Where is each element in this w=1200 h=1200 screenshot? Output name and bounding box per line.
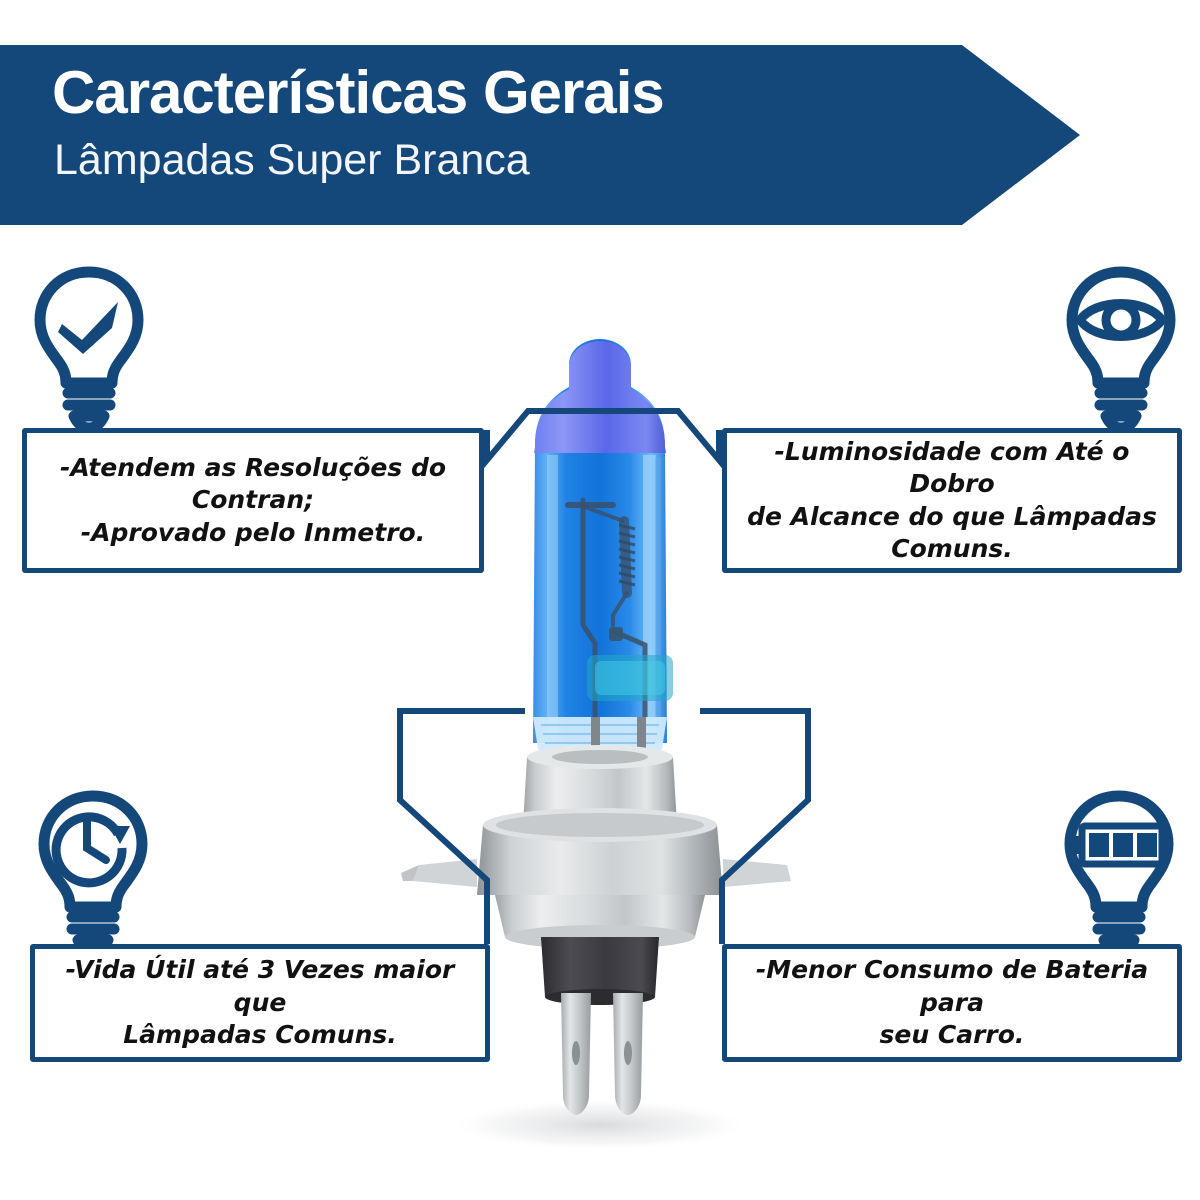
bulb-eye-icon xyxy=(1058,262,1184,432)
callout-box-luminosidade-dobro: -Luminosidade com Até o Dobro de Alcance… xyxy=(722,428,1182,573)
bulb-check-icon xyxy=(26,262,152,432)
header-banner: Características Gerais Lâmpadas Super Br… xyxy=(0,45,1080,225)
callout-box-vida-util: -Vida Útil até 3 Vezes maior que Lâmpada… xyxy=(30,944,490,1062)
callout-text-resolucoes-contran: -Atendem as Resoluções do Contran; -Apro… xyxy=(48,452,458,550)
callout-text-luminosidade-dobro: -Luminosidade com Até o Dobro de Alcance… xyxy=(727,436,1177,566)
bulb-battery-icon xyxy=(1056,786,1182,956)
callout-text-menor-consumo: -Menor Consumo de Bateria para seu Carro… xyxy=(727,954,1177,1052)
callout-text-vida-util: -Vida Útil até 3 Vezes maior que Lâmpada… xyxy=(35,954,485,1052)
page-title: Características Gerais xyxy=(52,61,664,124)
callout-box-resolucoes-contran: -Atendem as Resoluções do Contran; -Apro… xyxy=(22,428,484,573)
infographic-canvas: Características Gerais Lâmpadas Super Br… xyxy=(0,0,1200,1200)
callout-box-menor-consumo: -Menor Consumo de Bateria para seu Carro… xyxy=(722,944,1182,1062)
page-subtitle: Lâmpadas Super Branca xyxy=(54,138,530,183)
bulb-clock-icon xyxy=(30,786,156,956)
